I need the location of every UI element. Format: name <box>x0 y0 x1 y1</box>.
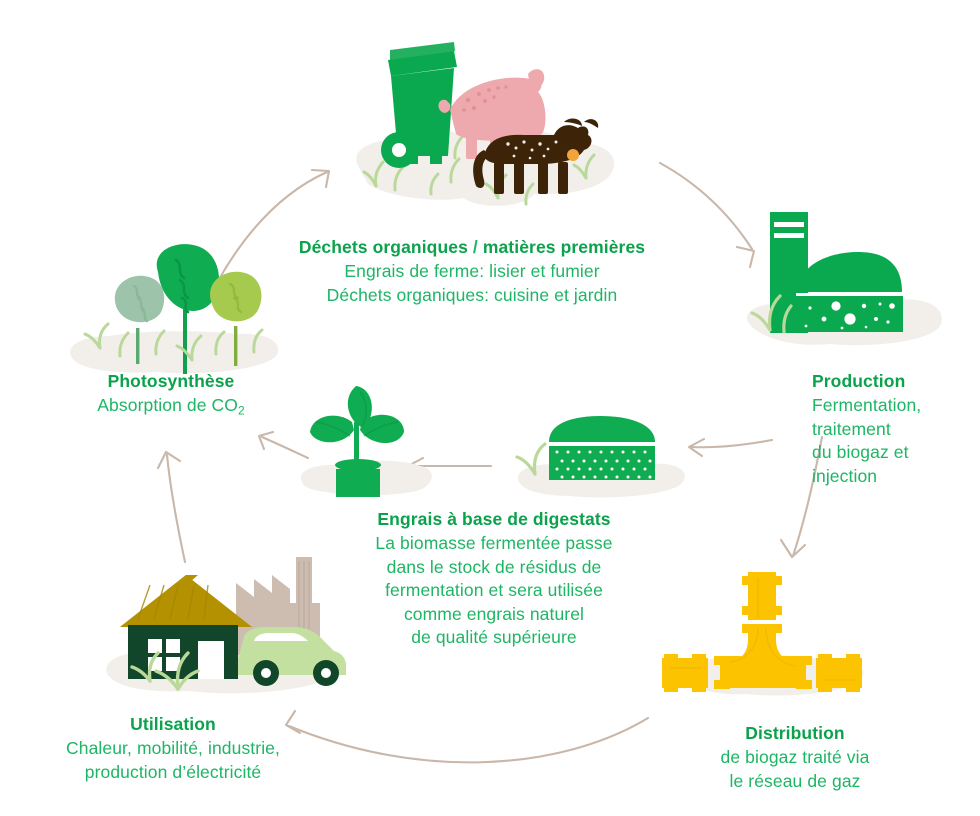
distribution-line-1: de biogaz traité via <box>660 746 930 769</box>
production-line-1: Fermentation, <box>812 394 980 417</box>
photosynthesis-co2-prefix: Absorption de CO <box>97 395 238 415</box>
utilisation-title: Utilisation <box>6 713 340 736</box>
photosynthesis-title: Photosynthèse <box>36 370 306 393</box>
waste-title-separator: / <box>468 237 483 257</box>
waste-title: Déchets organiques / matières premières <box>230 236 714 259</box>
waste-line-1: Engrais de ferme: lisier et fumier <box>230 260 714 283</box>
photosynthesis-co2-subscript: 2 <box>238 404 245 418</box>
utilisation-line-1: Chaleur, mobilité, industrie, <box>6 737 340 760</box>
distribution-line-2: le réseau de gaz <box>660 770 930 793</box>
photosynthesis-text-block: Photosynthèse Absorption de CO2 <box>36 370 306 420</box>
digestate-line-2: dans le stock de résidus de <box>318 556 670 579</box>
organic-waste-bin-pig-cow-icon <box>338 38 633 213</box>
arrow-production-to-digestate-tank <box>689 439 772 456</box>
production-line-3: du biogaz et <box>812 441 980 464</box>
utilisation-text-block: Utilisation Chaleur, mobilité, industrie… <box>6 713 340 784</box>
digestate-line-3: fermentation et sera utilisée <box>318 579 670 602</box>
distribution-text-block: Distribution de biogaz traité via le rés… <box>660 722 930 793</box>
arrow-distribution-to-utilisation <box>286 711 648 762</box>
digestate-line-4: comme engrais naturel <box>318 603 670 626</box>
waste-line-2: Déchets organiques: cuisine et jardin <box>230 284 714 307</box>
gas-pipe-junction-icon <box>652 558 880 706</box>
waste-text-block: Déchets organiques / matières premières … <box>230 236 714 307</box>
distribution-title: Distribution <box>660 722 930 745</box>
production-line-2: traitement <box>812 418 980 441</box>
house-factory-car-icon <box>98 535 348 713</box>
waste-title-part1: Déchets organiques <box>299 237 468 257</box>
infographic-canvas: .ar{fill:none;stroke:#c9b7aa;stroke-widt… <box>0 0 980 816</box>
digestate-title: Engrais à base de digestats <box>318 508 670 531</box>
production-title: Production <box>812 370 980 393</box>
waste-title-part2: matières premières <box>483 237 645 257</box>
production-text-block: Production Fermentation, traitement du b… <box>812 370 980 488</box>
biogas-plant-icon <box>740 200 955 355</box>
seedling-pot-icon <box>292 378 442 503</box>
digestate-line-5: de qualité supérieure <box>318 626 670 649</box>
digestate-line-1: La biomasse fermentée passe <box>318 532 670 555</box>
digestate-tank-icon <box>505 408 695 503</box>
digestate-text-block: Engrais à base de digestats La biomasse … <box>318 508 670 650</box>
utilisation-line-2: production d’électricité <box>6 761 340 784</box>
production-line-4: injection <box>812 465 980 488</box>
photosynthesis-line-1: Absorption de CO2 <box>36 394 306 419</box>
